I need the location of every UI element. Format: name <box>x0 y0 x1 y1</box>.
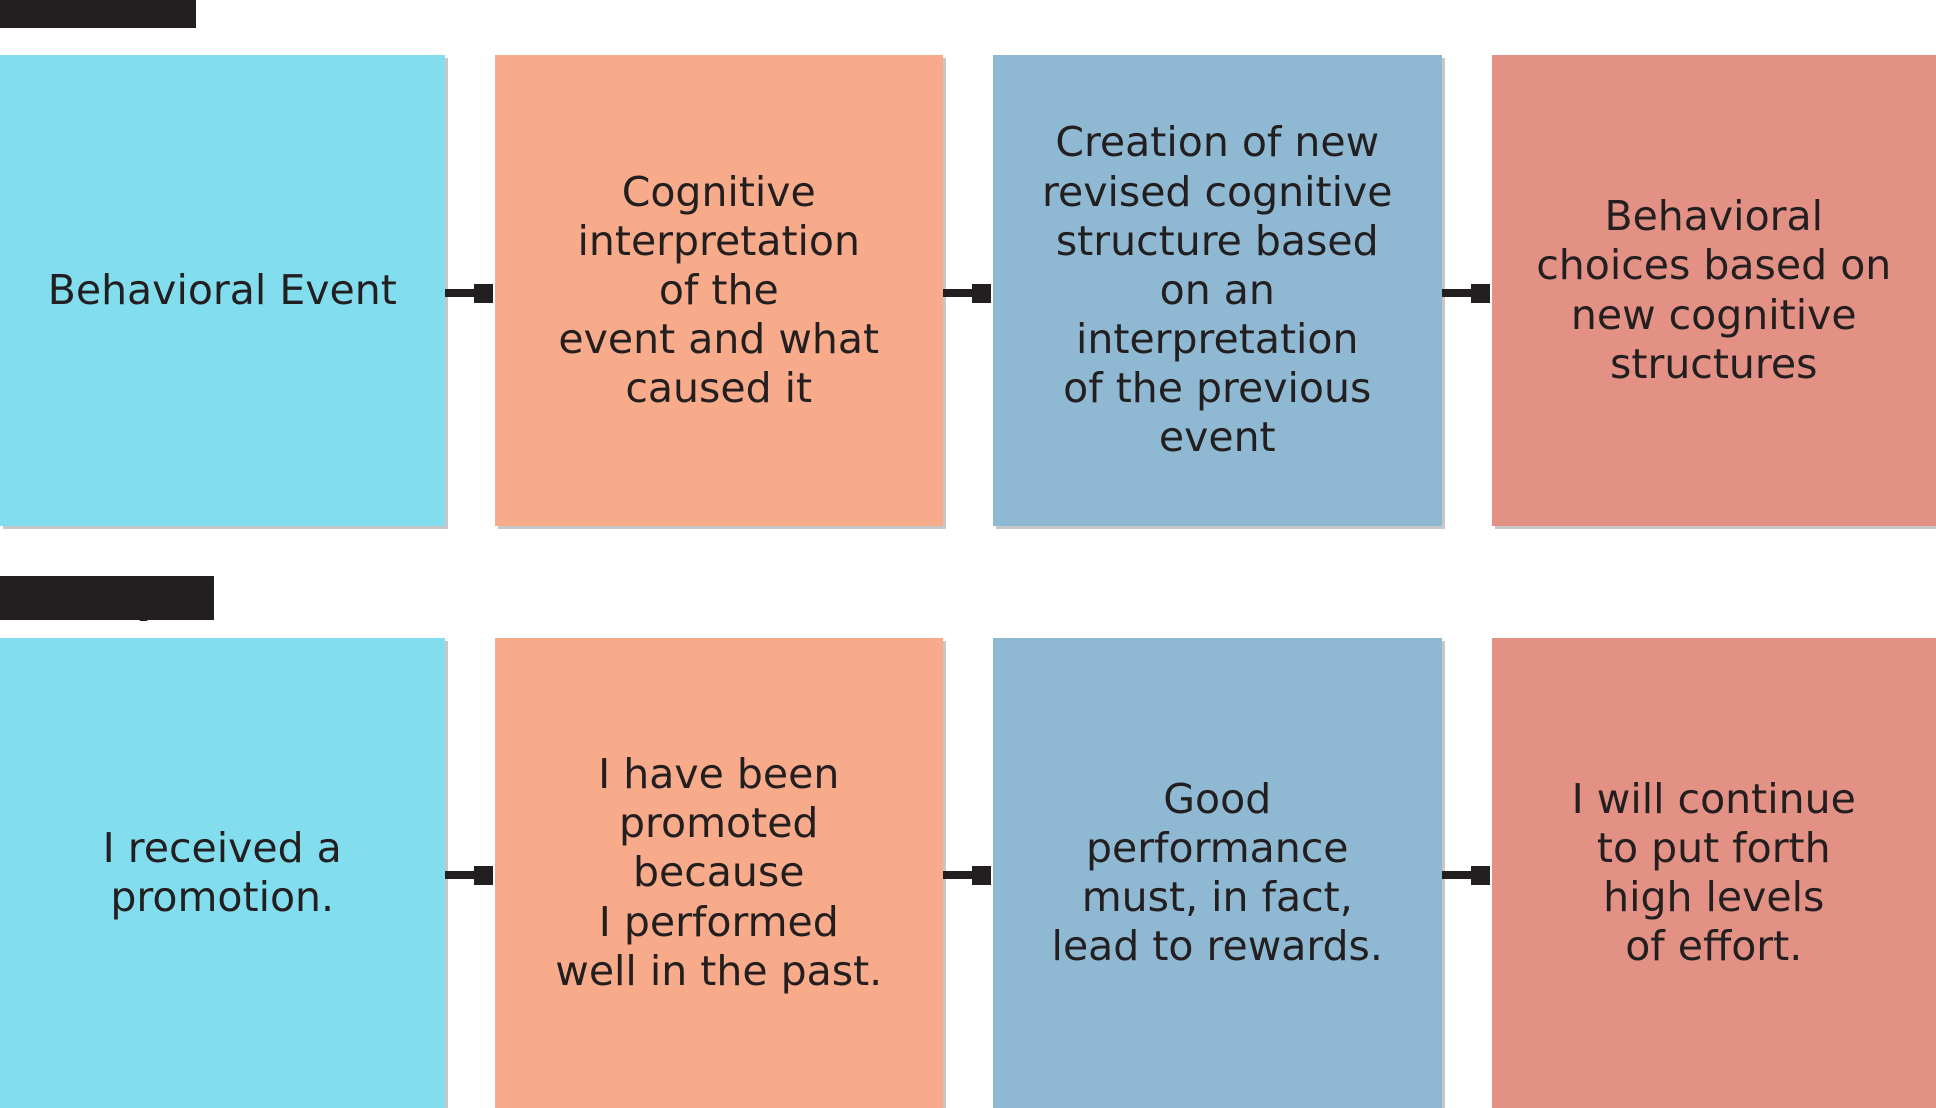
connector-slot-1 <box>445 55 495 526</box>
connector-slot-6 <box>1442 638 1492 1108</box>
arrow-head <box>1471 866 1490 885</box>
node-performance-leads-rewards[interactable]: Good performance must, in fact, lead to … <box>993 638 1442 1108</box>
node-received-promotion-text: I received a promotion. <box>14 824 431 922</box>
node-new-cognitive-structure[interactable]: Creation of new revised cognitive struct… <box>993 55 1442 526</box>
right-arrow-icon <box>1442 284 1492 298</box>
node-cognitive-interpretation-text: Cognitive interpretation of the event an… <box>509 168 930 414</box>
connector-slot-4 <box>445 638 495 1108</box>
section-label-example: Example <box>0 576 214 622</box>
arrow-head <box>474 866 493 885</box>
node-promoted-because-text: I have been promoted because I performed… <box>509 750 930 996</box>
right-arrow-icon <box>943 284 993 298</box>
node-behavioral-event-text: Behavioral Event <box>14 266 431 315</box>
node-cognitive-interpretation[interactable]: Cognitive interpretation of the event an… <box>495 55 944 526</box>
node-continue-high-effort-text: I will continue to put forth high levels… <box>1506 775 1923 972</box>
node-behavioral-choices-text: Behavioral choices based on new cognitiv… <box>1506 192 1923 389</box>
node-performance-leads-rewards-text: Good performance must, in fact, lead to … <box>1007 775 1428 972</box>
right-arrow-icon <box>1442 866 1492 880</box>
node-behavioral-event[interactable]: Behavioral Event <box>0 55 445 526</box>
right-arrow-icon <box>445 866 495 880</box>
node-received-promotion[interactable]: I received a promotion. <box>0 638 445 1108</box>
process-row: Behavioral Event Cognitive interpretatio… <box>0 55 1936 526</box>
right-arrow-icon <box>445 284 495 298</box>
arrow-head <box>474 284 493 303</box>
section-label-process: Process <box>0 0 196 30</box>
node-behavioral-choices[interactable]: Behavioral choices based on new cognitiv… <box>1492 55 1936 526</box>
section-label-process-text: Process <box>0 0 196 28</box>
arrow-head <box>972 866 991 885</box>
node-promoted-because[interactable]: I have been promoted because I performed… <box>495 638 944 1108</box>
connector-slot-2 <box>943 55 993 526</box>
node-new-cognitive-structure-text: Creation of new revised cognitive struct… <box>1007 118 1428 462</box>
example-row: I received a promotion. I have been prom… <box>0 638 1936 1108</box>
diagram-canvas: Process Behavioral Event Cognitive inter… <box>0 0 1936 1108</box>
connector-slot-3 <box>1442 55 1492 526</box>
arrow-head <box>972 284 991 303</box>
section-label-example-text: Example <box>0 576 214 620</box>
node-continue-high-effort[interactable]: I will continue to put forth high levels… <box>1492 638 1936 1108</box>
connector-slot-5 <box>943 638 993 1108</box>
arrow-head <box>1471 284 1490 303</box>
right-arrow-icon <box>943 866 993 880</box>
